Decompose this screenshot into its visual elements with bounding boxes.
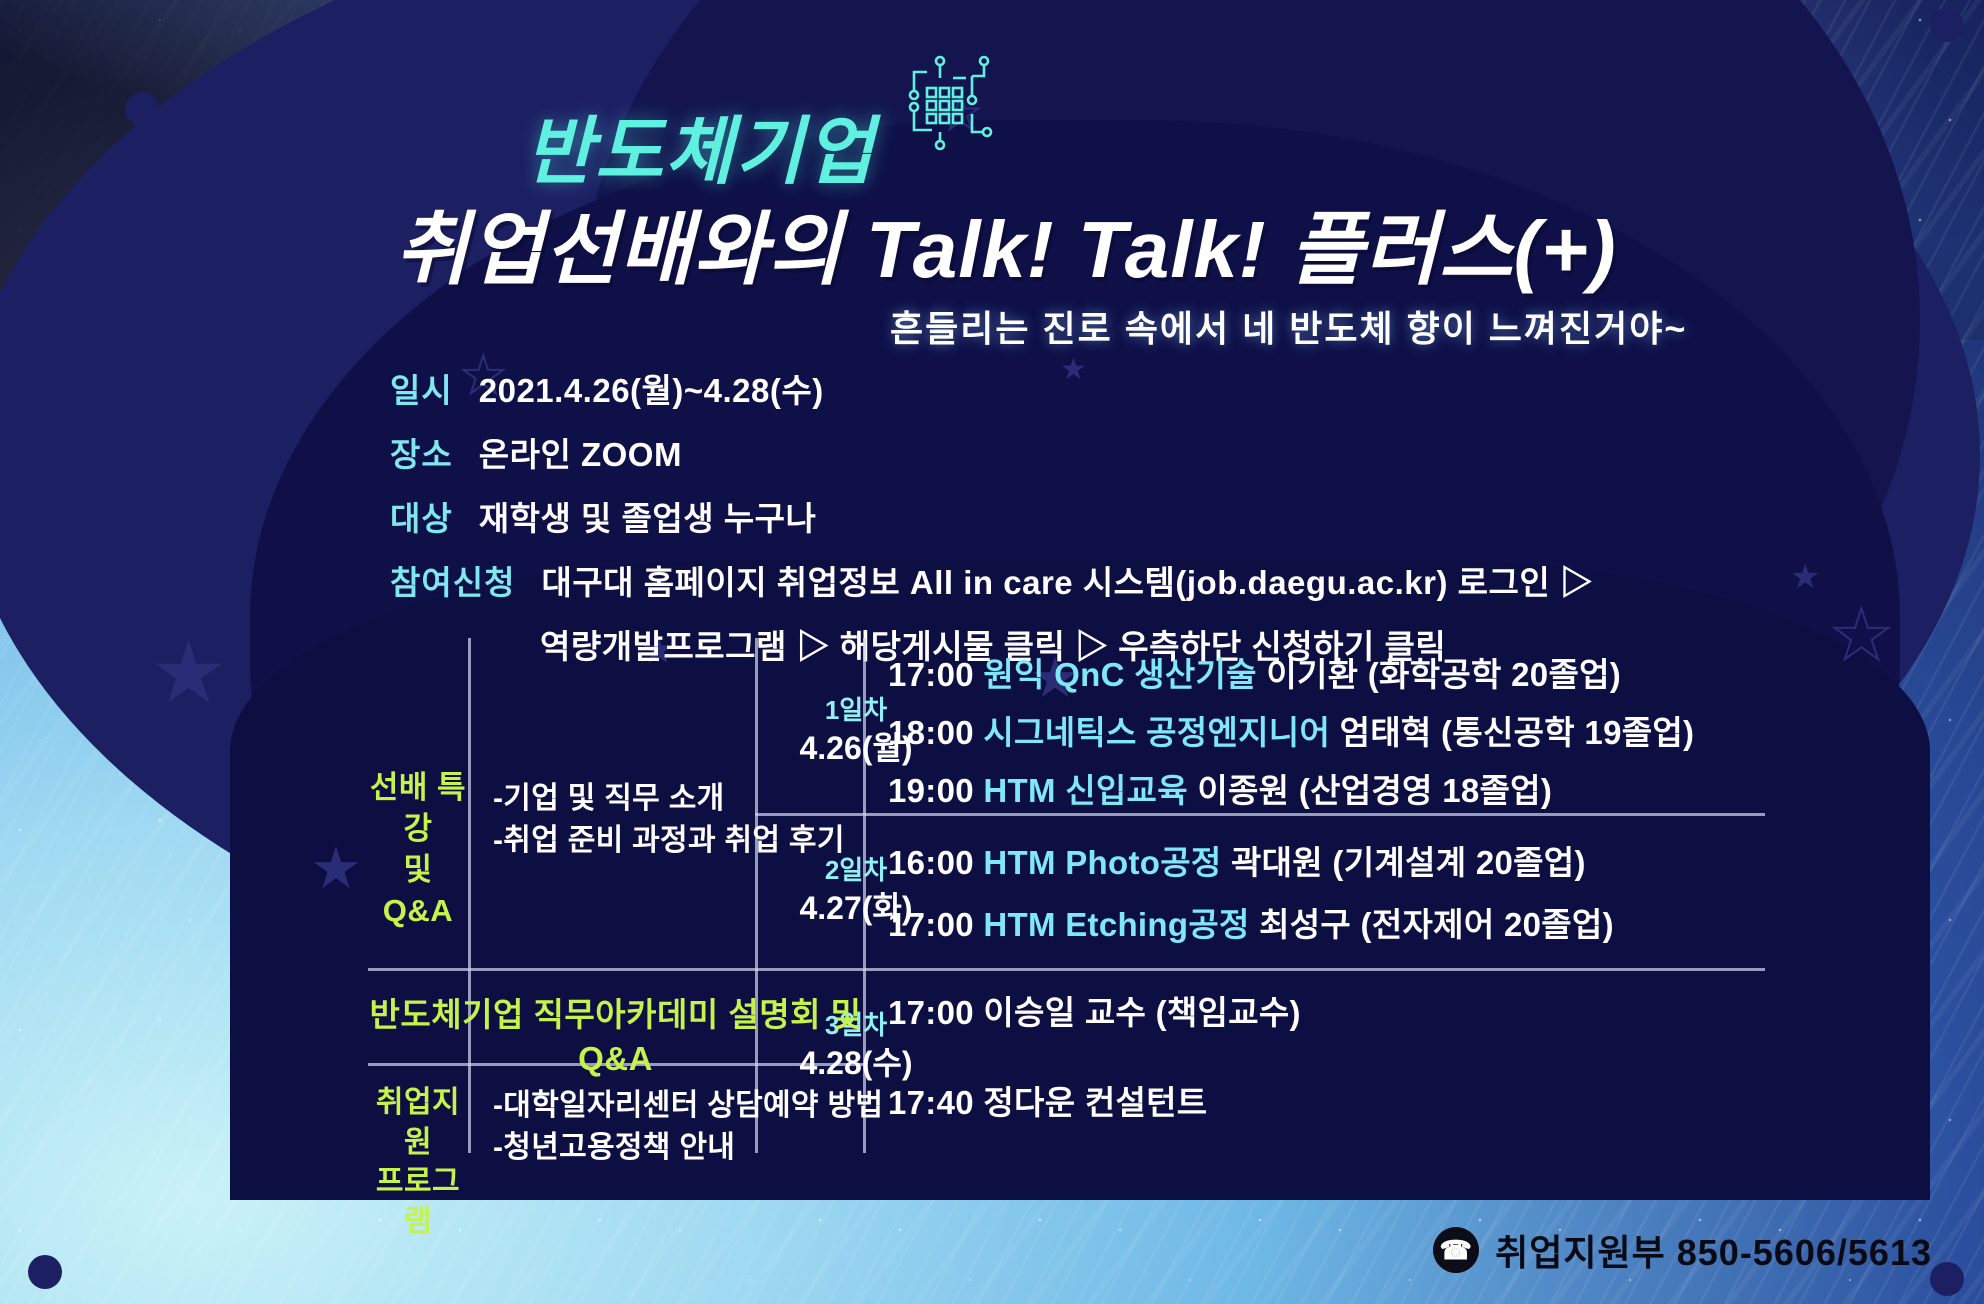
info-label-date: 일시	[390, 364, 453, 412]
description-support-program: -대학일자리센터 상담예약 방법 -청년고용정책 안내	[493, 1085, 883, 1169]
category-mentor-talk-line3: Q&A	[383, 893, 453, 928]
decorative-star: ★	[310, 840, 362, 898]
poster-title-line1: 반도체기업	[525, 92, 875, 199]
session-org: HTM 신입교육	[983, 772, 1188, 809]
category-support-program-line2: 프로그램	[376, 1165, 460, 1238]
table-hline-day2-3	[368, 968, 1765, 971]
session-speaker: 이승일 교수 (책임교수)	[983, 994, 1300, 1031]
decorative-star: ★	[150, 630, 227, 716]
info-row-apply: 참여신청 대구대 홈페이지 취업정보 All in care 시스템(job.d…	[390, 556, 1770, 604]
contact-info: ☎ 취업지원부 850-5606/5613	[1433, 1224, 1932, 1276]
info-value-date: 2021.4.26(월)~4.28(수)	[479, 364, 824, 412]
session-time: 17:40	[888, 1084, 974, 1121]
session-speaker: 곽대원 (기계설계 20졸업)	[1231, 844, 1586, 881]
info-value-place: 온라인 ZOOM	[479, 428, 682, 476]
session-org: HTM Etching공정	[983, 906, 1249, 943]
session-time: 18:00	[888, 714, 974, 751]
session-row: 17:00 HTM Etching공정 최성구 (전자제어 20졸업)	[888, 898, 1614, 946]
info-label-place: 장소	[390, 428, 453, 476]
table-vline-1	[468, 638, 471, 968]
telephone-icon: ☎	[1433, 1227, 1479, 1273]
info-row-date: 일시 2021.4.26(월)~4.28(수)	[390, 364, 1770, 412]
info-row-place: 장소 온라인 ZOOM	[390, 428, 1770, 476]
category-job-academy: 반도체기업 직무아카데미 설명회 및 Q&A	[368, 993, 863, 1080]
table-hline-day1-2	[755, 813, 1765, 816]
info-label-apply: 참여신청	[390, 556, 515, 604]
session-time: 19:00	[888, 772, 974, 809]
contact-text: 취업지원부 850-5606/5613	[1495, 1224, 1932, 1276]
category-mentor-talk: 선배 특강 및 Q&A	[368, 768, 468, 932]
description-support-program-line1: -대학일자리센터 상담예약 방법	[493, 1085, 883, 1127]
session-speaker: 이종원 (산업경영 18졸업)	[1197, 772, 1552, 809]
poster-subtitle: 흔들리는 진로 속에서 네 반도체 향이 느껴진거야~	[890, 300, 1687, 352]
session-row: 17:00 이승일 교수 (책임교수)	[888, 986, 1301, 1034]
circuit-chip-icon	[880, 52, 1000, 157]
session-time: 17:00	[888, 994, 974, 1031]
info-row-audience: 대상 재학생 및 졸업생 누구나	[390, 492, 1770, 540]
decorative-star: ★	[1790, 560, 1820, 594]
corner-dot	[28, 1255, 62, 1289]
session-speaker: 이기환 (화학공학 20졸업)	[1266, 656, 1621, 693]
description-mentor-talk-line1: -기업 및 직무 소개	[493, 778, 845, 820]
session-time: 17:00	[888, 906, 974, 943]
info-block: 일시 2021.4.26(월)~4.28(수) 장소 온라인 ZOOM 대상 재…	[390, 364, 1770, 668]
session-row: 19:00 HTM 신입교육 이종원 (산업경영 18졸업)	[888, 764, 1552, 812]
session-speaker: 정다운 컨설턴트	[983, 1084, 1207, 1121]
session-row: 17:00 원익 QnC 생산기술 이기환 (화학공학 20졸업)	[888, 648, 1621, 696]
session-org: 원익 QnC 생산기술	[983, 656, 1256, 693]
category-support-program: 취업지원 프로그램	[368, 1083, 468, 1241]
info-value-audience: 재학생 및 졸업생 누구나	[479, 492, 817, 540]
session-time: 16:00	[888, 844, 974, 881]
session-speaker: 최성구 (전자제어 20졸업)	[1259, 906, 1614, 943]
session-speaker: 엄태혁 (통신공학 19졸업)	[1340, 714, 1695, 751]
corner-dot	[1930, 1262, 1964, 1296]
category-mentor-talk-line1: 선배 특강	[370, 770, 466, 846]
description-mentor-talk: -기업 및 직무 소개 -취업 준비 과정과 취업 후기	[493, 778, 845, 862]
session-org: 시그네틱스 공정엔지니어	[983, 714, 1330, 751]
category-mentor-talk-line2: 및	[403, 852, 432, 887]
corner-dot	[125, 92, 159, 126]
poster-title-line2: 취업선배와의 Talk! Talk! 플러스(+)	[395, 185, 1617, 301]
session-time: 17:00	[888, 656, 974, 693]
corner-dot	[1930, 8, 1964, 42]
session-org: HTM Photo공정	[983, 844, 1221, 881]
session-row: 18:00 시그네틱스 공정엔지니어 엄태혁 (통신공학 19졸업)	[888, 706, 1694, 754]
info-label-audience: 대상	[390, 492, 453, 540]
session-row: 17:40 정다운 컨설턴트	[888, 1076, 1207, 1124]
decorative-star-outline: ★	[1830, 600, 1893, 670]
session-row: 16:00 HTM Photo공정 곽대원 (기계설계 20졸업)	[888, 836, 1586, 884]
schedule-table: 선배 특강 및 Q&A -기업 및 직무 소개 -취업 준비 과정과 취업 후기…	[368, 638, 1768, 1158]
category-support-program-line1: 취업지원	[376, 1086, 460, 1159]
poster-root: ★ ★ ★ ★ ★ ★ ★ ★ ★ 반도체기업 취업선배와의 Talk! Tal…	[0, 0, 1984, 1304]
description-support-program-line2: -청년고용정책 안내	[493, 1127, 883, 1169]
info-value-apply: 대구대 홈페이지 취업정보 All in care 시스템(job.daegu.…	[541, 556, 1593, 604]
